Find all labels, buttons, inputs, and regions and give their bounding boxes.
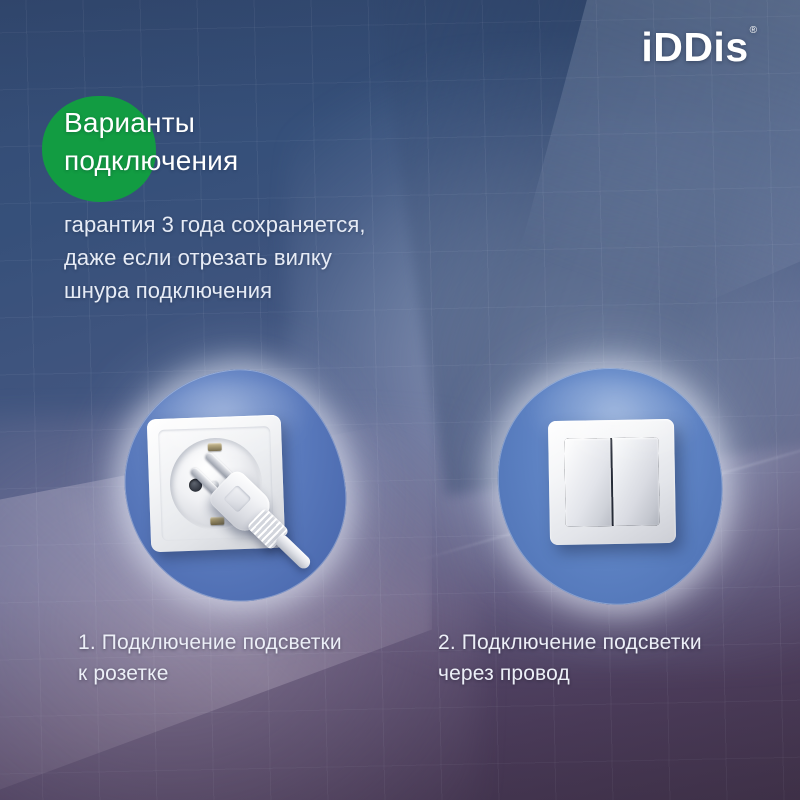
option-1-image [125,370,345,602]
plug-face [223,485,251,513]
option-2-caption: 2. Подключение подсветки через провод [438,628,778,689]
headline-block: Варианты подключения [64,104,484,180]
option-1-blob-shape [113,359,356,613]
option-2-photo [497,368,723,604]
socket-earth-contact-top [208,442,222,450]
light-switch [548,419,676,545]
page-subtitle: гарантия 3 года сохраняется, даже если о… [64,208,494,307]
option-2-image [497,368,723,604]
option-1-caption: 1. Подключение подсветки к розетке [78,628,408,689]
switch-rocker-left [564,438,612,527]
plug-cord [274,533,313,572]
option-1-photo [125,370,345,602]
switch-rocker-group [564,437,660,527]
registered-trademark-icon: ® [750,25,757,36]
page-title: Варианты подключения [64,104,484,180]
brand-logo-text: iDDis [641,24,748,70]
promo-poster: iDDis® Варианты подключения гарантия 3 г… [0,0,800,800]
option-2-blob-shape [487,359,733,614]
switch-rocker-right [612,437,660,526]
brand-logo: iDDis® [641,27,756,68]
